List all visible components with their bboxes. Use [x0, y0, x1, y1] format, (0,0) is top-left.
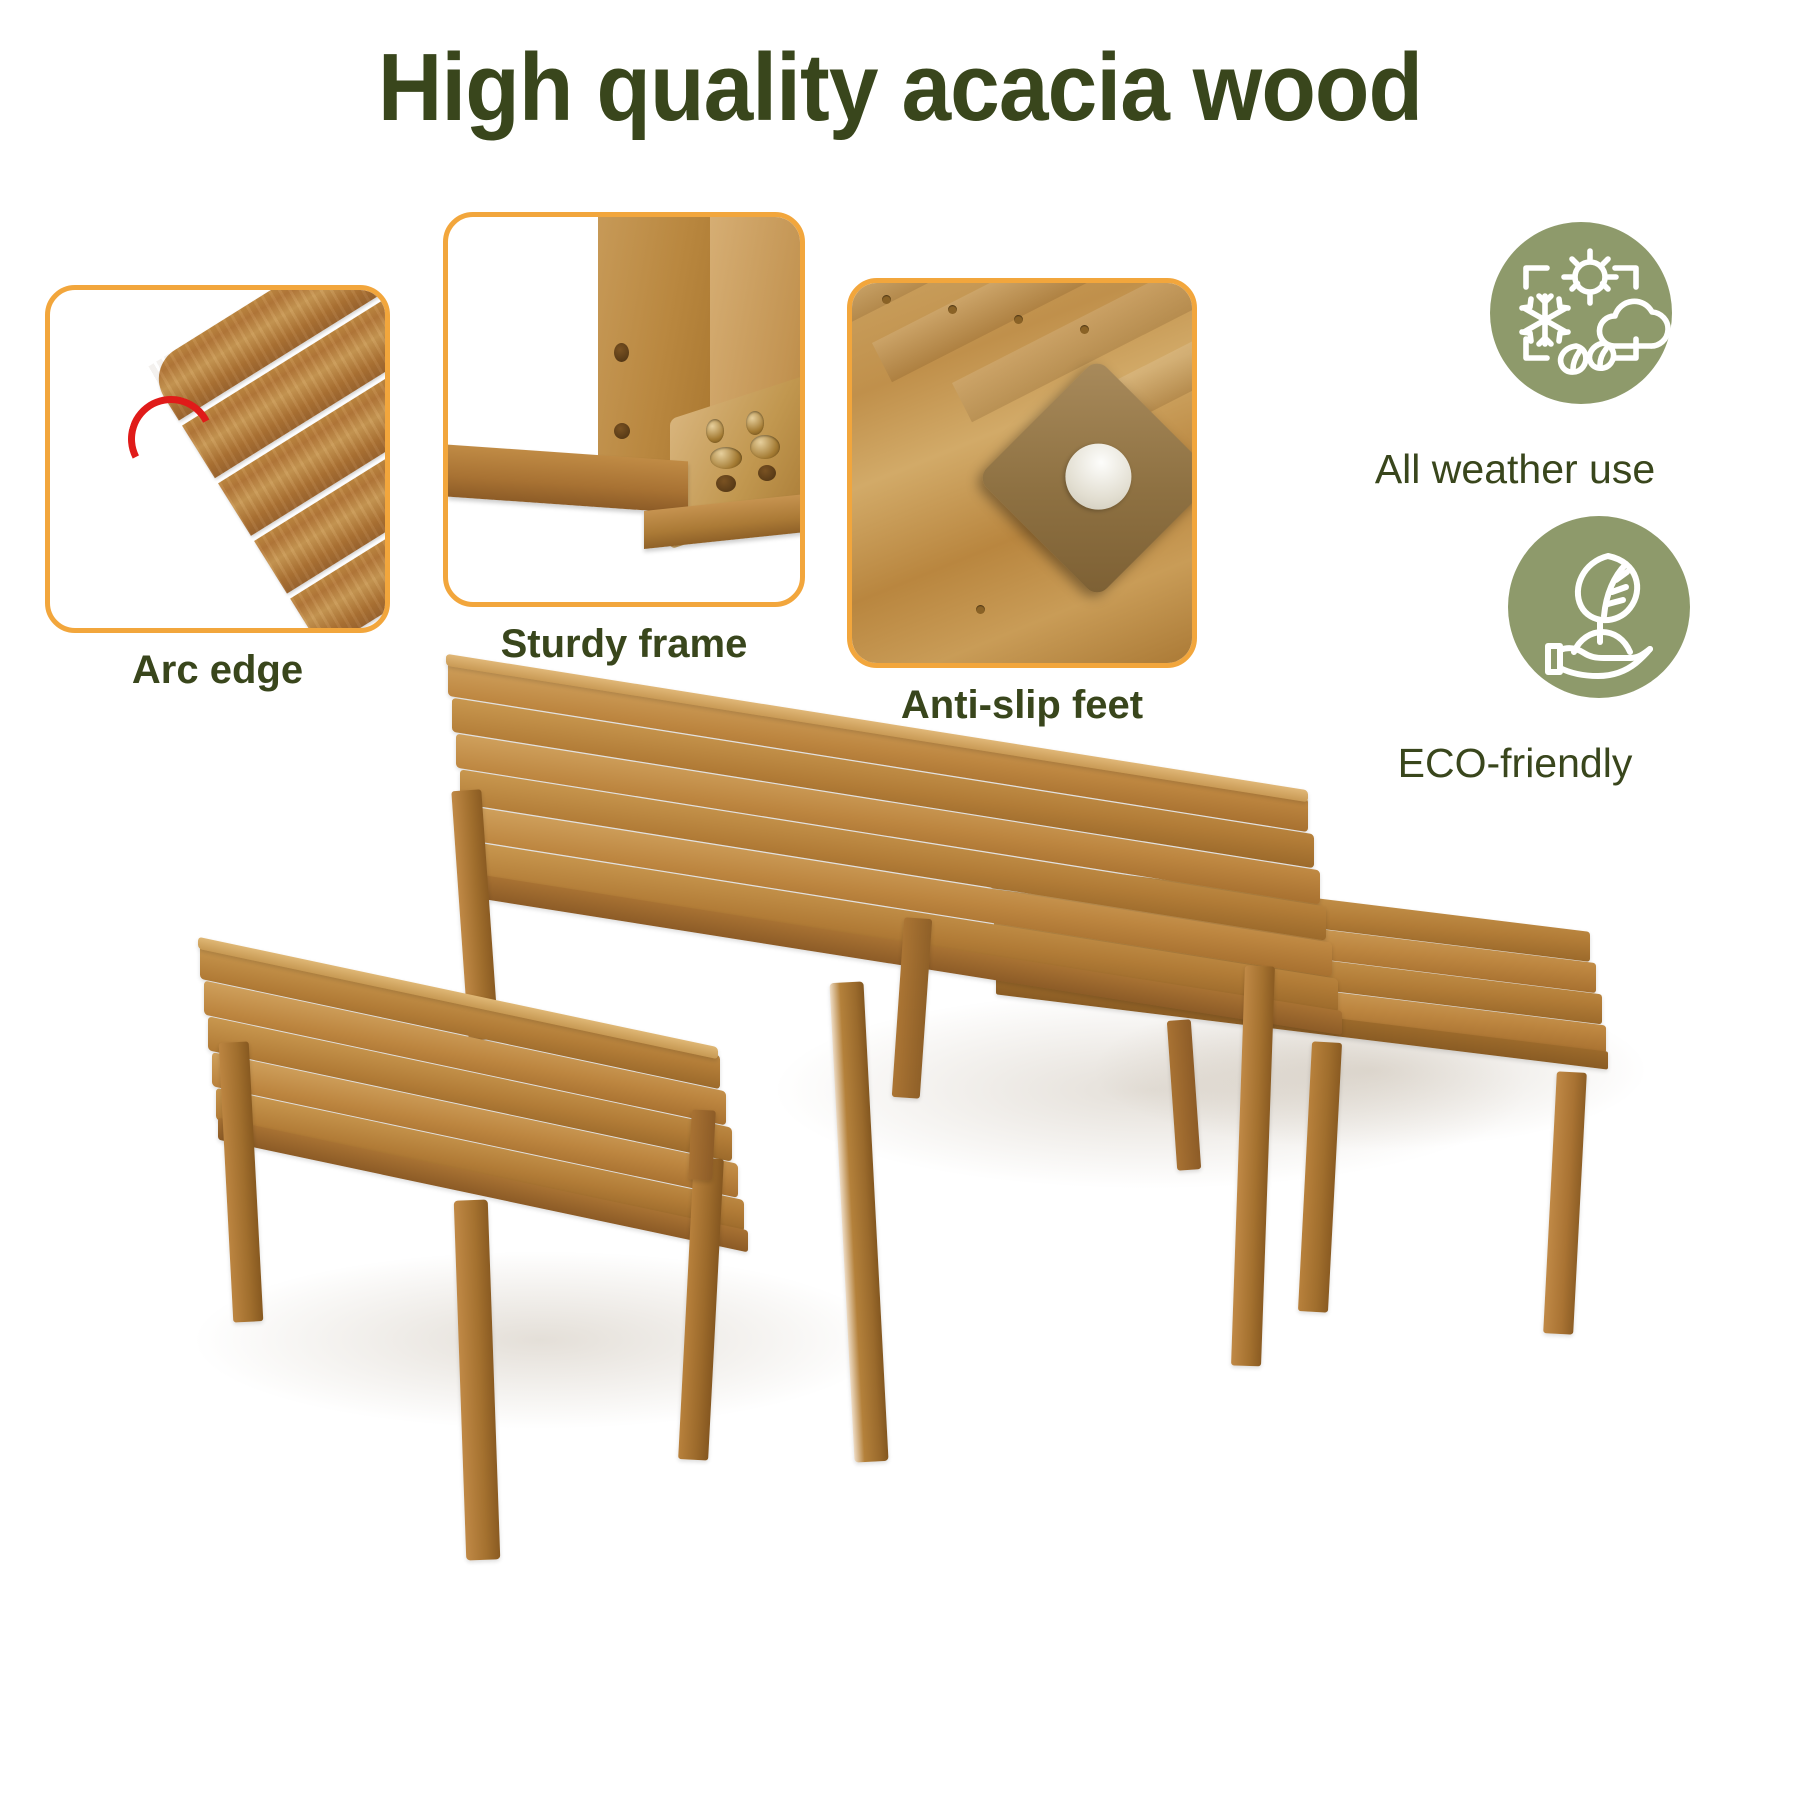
weather-sun-snow-cloud-leaf-icon — [1490, 222, 1672, 404]
badge-eco-friendly-circle — [1508, 516, 1690, 698]
callout-anti-slip-feet-frame — [847, 278, 1197, 668]
page-title: High quality acacia wood — [63, 38, 1737, 139]
callout-arc-edge-frame — [45, 285, 390, 633]
hand-holding-leaf-icon — [1508, 516, 1690, 698]
callout-sturdy-frame-label: Sturdy frame — [443, 622, 805, 667]
badge-all-weather-circle — [1490, 222, 1672, 404]
product-hero-image — [130, 690, 1690, 1750]
badge-all-weather-label: All weather use — [1235, 446, 1795, 493]
table-corner-closeup-icon — [50, 290, 385, 628]
callout-arc-edge-label: Arc edge — [45, 648, 390, 693]
white-anti-slip-pad — [1052, 430, 1145, 523]
callout-sturdy-frame-frame — [443, 212, 805, 607]
frame-joint-closeup-icon — [448, 217, 800, 602]
leg-foot-pad-closeup-icon — [852, 283, 1192, 663]
